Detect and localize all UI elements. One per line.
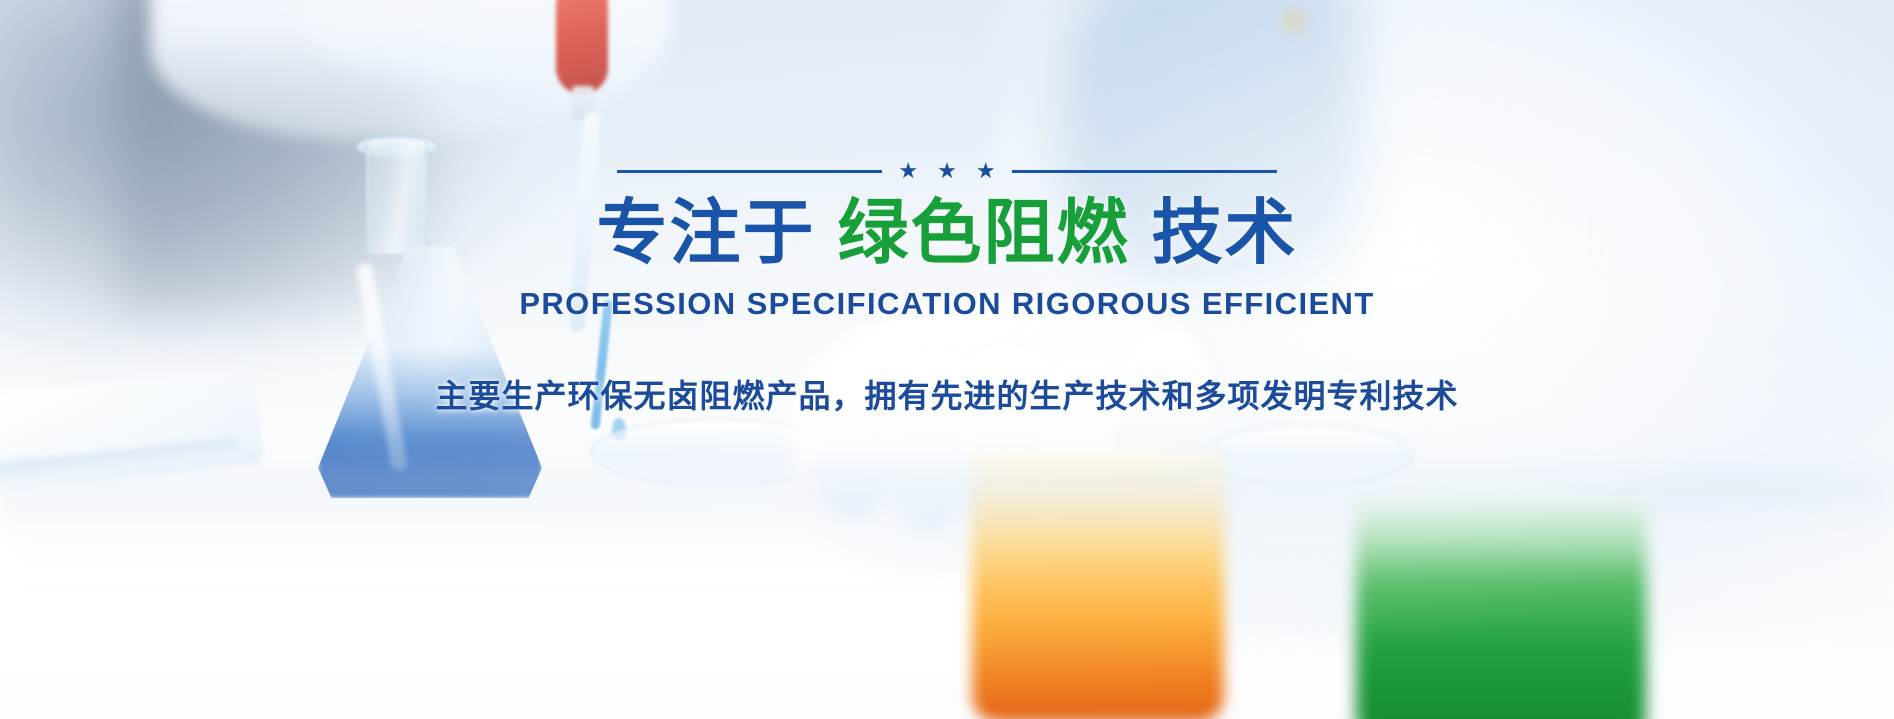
star-icon: ★ [937,160,957,182]
banner-content: ★ ★ ★ 专注于绿色阻燃技术 PROFESSION SPECIFICATION… [0,160,1894,417]
star-icon: ★ [976,160,996,182]
headline-part-1: 专注于 [596,194,815,273]
headline-part-3: 技术 [1152,194,1298,273]
hero-banner: ★ ★ ★ 专注于绿色阻燃技术 PROFESSION SPECIFICATION… [0,0,1894,719]
banner-subtitle: PROFESSION SPECIFICATION RIGOROUS EFFICI… [519,286,1374,322]
rule-line-right [1012,170,1277,173]
rule-line-left [617,170,882,173]
banner-description: 主要生产环保无卤阻燃产品，拥有先进的生产技术和多项发明专利技术 [435,371,1458,417]
banner-headline: 专注于绿色阻燃技术 [596,198,1297,270]
star-group: ★ ★ ★ [898,160,995,182]
decorative-rule: ★ ★ ★ [617,160,1277,182]
headline-part-2: 绿色阻燃 [837,194,1129,273]
star-icon: ★ [898,160,918,182]
